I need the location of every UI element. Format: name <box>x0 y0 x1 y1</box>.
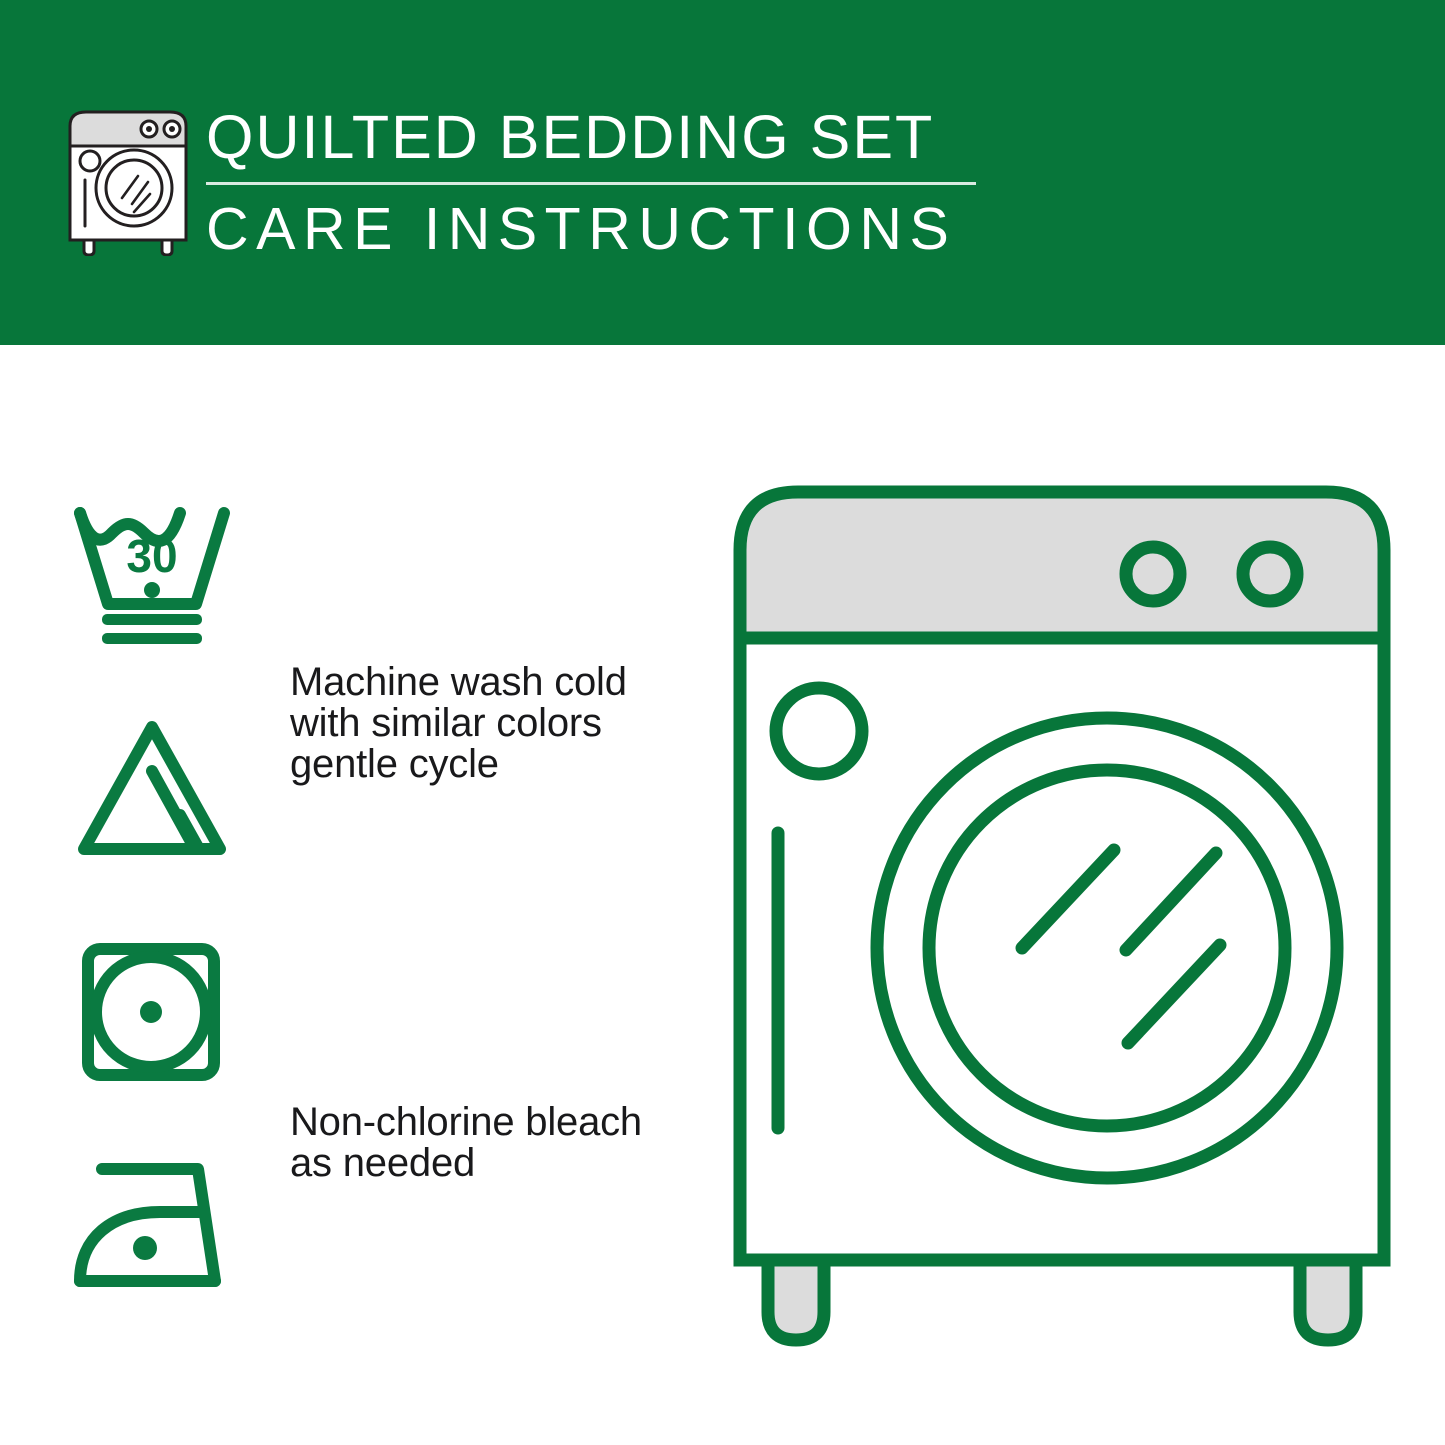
wash-temperature-label: 30 <box>126 530 177 582</box>
tumble-dry-low-icon <box>68 937 238 1087</box>
header-title-block: QUILTED BEDDING SET CARE INSTRUCTIONS <box>206 100 1006 264</box>
care-text-line: gentle cycle <box>290 744 627 785</box>
care-text-line: as needed <box>290 1143 642 1184</box>
non-chlorine-bleach-triangle-icon <box>68 715 238 865</box>
care-text-line: Non-chlorine bleach <box>290 1102 642 1143</box>
care-instructions-page: QUILTED BEDDING SET CARE INSTRUCTIONS 30 <box>0 0 1445 1445</box>
washing-machine-illustration <box>722 478 1402 1368</box>
control-panel <box>740 492 1384 638</box>
care-text-line: with similar colors <box>290 703 627 744</box>
leg-right <box>1300 1260 1356 1340</box>
wash-tub-30-icon: 30 <box>68 500 238 650</box>
page-title: QUILTED BEDDING SET <box>206 100 1006 174</box>
care-text-bleach: Non-chlorine bleach as needed <box>290 1102 642 1184</box>
leg-left <box>768 1260 824 1340</box>
header-banner: QUILTED BEDDING SET CARE INSTRUCTIONS <box>0 0 1445 345</box>
care-text-line: Machine wash cold <box>290 662 627 703</box>
care-text-machine-wash: Machine wash cold with similar colors ge… <box>290 662 627 785</box>
washing-machine-icon <box>62 104 194 256</box>
iron-low-heat-icon <box>68 1150 238 1300</box>
title-divider <box>206 182 976 185</box>
page-subtitle: CARE INSTRUCTIONS <box>206 194 1006 264</box>
